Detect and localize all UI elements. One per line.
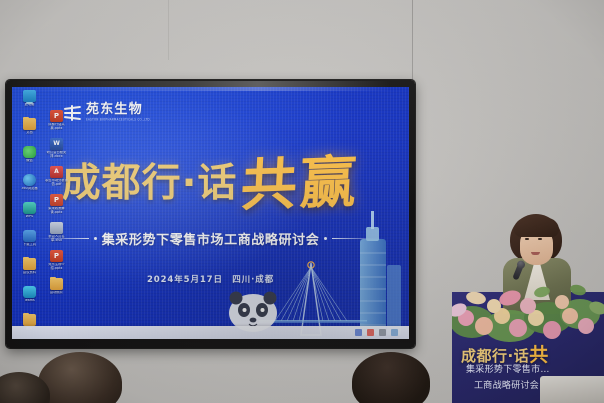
- windows-taskbar[interactable]: [12, 326, 409, 339]
- desktop-icon-label: WPS: [16, 215, 43, 219]
- desktop-icon[interactable]: 苑东生物介绍.pptx: [43, 249, 70, 276]
- desktop-icon[interactable]: 集采政策解读.pptx: [43, 193, 70, 220]
- powerpoint-icon: [50, 250, 63, 262]
- browser-icon: [23, 174, 36, 186]
- logo-text: 苑东生物 EASTON BIOPHARMACEUTICALS CO.,LTD.: [86, 103, 151, 122]
- desktop-icon[interactable]: 会场照片: [43, 277, 70, 304]
- tower-icon: [360, 211, 401, 335]
- desktop-icon-label: 参会人员名单.xlsx: [43, 235, 70, 242]
- notification-icon[interactable]: [367, 329, 374, 336]
- file-icon: [50, 222, 63, 234]
- presentation-display[interactable]: 此电脑 文档 微信 360浏览器: [6, 80, 415, 348]
- presentation-slide: 苑东生物 EASTON BIOPHARMACEUTICALS CO.,LTD. …: [12, 87, 409, 339]
- app-icon: [23, 202, 36, 214]
- desktop-icon-label: 此电脑: [16, 103, 43, 107]
- desktop-icon[interactable]: 研讨会日程安排.docx: [43, 137, 70, 164]
- desktop-icon-label: 集采政策解读.pptx: [43, 207, 70, 214]
- desktop-icon-column-1: 此电脑 文档 微信 360浏览器: [16, 89, 43, 339]
- word-icon: [50, 138, 63, 150]
- slide-title: 成都行·话共赢: [12, 159, 409, 209]
- desktop-icon[interactable]: 360浏览器: [16, 173, 43, 200]
- desktop-icon[interactable]: 文档: [16, 117, 43, 144]
- desktop-icon[interactable]: 成都行话共赢.pptx: [43, 109, 70, 136]
- powerpoint-icon: [50, 110, 63, 122]
- desktop-icon[interactable]: WPS: [16, 201, 43, 228]
- logo-company-name: 苑东生物: [86, 103, 151, 117]
- audience-head: [352, 352, 430, 403]
- desktop-icon-label: 会场照片: [43, 291, 70, 295]
- display-screen[interactable]: 此电脑 文档 微信 360浏览器: [12, 87, 409, 339]
- company-logo: 苑东生物 EASTON BIOPHARMACEUTICALS CO.,LTD.: [64, 103, 151, 122]
- slide-title-accent: 共赢: [240, 157, 361, 211]
- slide-title-main: 成都行·话: [62, 162, 238, 206]
- desktop-icon-label: Teams: [16, 299, 43, 303]
- desktop-icon-label: 下载工具: [16, 243, 43, 247]
- desktop-icon-label: 苑东生物介绍.pptx: [43, 263, 70, 270]
- podium-banner-subtitle-line2: 工商战略研讨会: [474, 378, 539, 391]
- wall-seam: [168, 0, 169, 60]
- folder-icon: [23, 258, 36, 270]
- monitor-icon: [23, 90, 36, 102]
- powerpoint-icon: [50, 194, 63, 206]
- app-icon: [23, 286, 36, 298]
- desktop-icon-label: 文档: [16, 131, 43, 135]
- volume-icon[interactable]: [391, 329, 398, 336]
- desktop-icon[interactable]: Teams: [16, 285, 43, 312]
- desktop-icon[interactable]: 微信: [16, 145, 43, 172]
- desktop-icon[interactable]: 会议资料: [16, 257, 43, 284]
- table-edge: [540, 376, 604, 403]
- folder-icon: [50, 278, 63, 290]
- app-icon: [23, 230, 36, 242]
- desktop-icon-label: 零售市场分析报告.pdf: [43, 179, 70, 186]
- desktop-icon-label: 研讨会日程安排.docx: [43, 151, 70, 158]
- desktop-icon-label: 微信: [16, 159, 43, 163]
- conference-room-scene: 此电脑 文档 微信 360浏览器: [0, 0, 604, 403]
- wechat-icon: [23, 146, 36, 158]
- network-icon[interactable]: [379, 329, 386, 336]
- speaker-fringe: [514, 218, 559, 237]
- desktop-icon-label: 成都行话共赢.pptx: [43, 123, 70, 130]
- desktop-icon-label: 会议资料: [16, 271, 43, 275]
- speaker-eye: [525, 238, 529, 240]
- desktop-icon-label: 360浏览器: [16, 187, 43, 191]
- ornament-dot-left: [94, 237, 97, 240]
- desktop-icon[interactable]: 参会人员名单.xlsx: [43, 221, 70, 248]
- folder-icon: [23, 118, 36, 130]
- desktop-icon-column-2: 成都行话共赢.pptx 研讨会日程安排.docx 零售市场分析报告.pdf 集采…: [43, 109, 70, 305]
- folder-icon: [23, 314, 36, 326]
- app-icon[interactable]: [355, 329, 362, 336]
- flower-arrangement: [452, 268, 604, 342]
- speaker-eye: [538, 238, 542, 240]
- logo-company-name-en: EASTON BIOPHARMACEUTICALS CO.,LTD.: [86, 118, 151, 123]
- desktop-icon[interactable]: 此电脑: [16, 89, 43, 116]
- podium-banner-subtitle-line1: 集采形势下零售市…: [466, 362, 550, 375]
- desktop-icon[interactable]: 下载工具: [16, 229, 43, 256]
- pdf-icon: [50, 166, 63, 178]
- desktop-icon[interactable]: 零售市场分析报告.pdf: [43, 165, 70, 192]
- chengdu-landmark-artwork: [219, 209, 409, 339]
